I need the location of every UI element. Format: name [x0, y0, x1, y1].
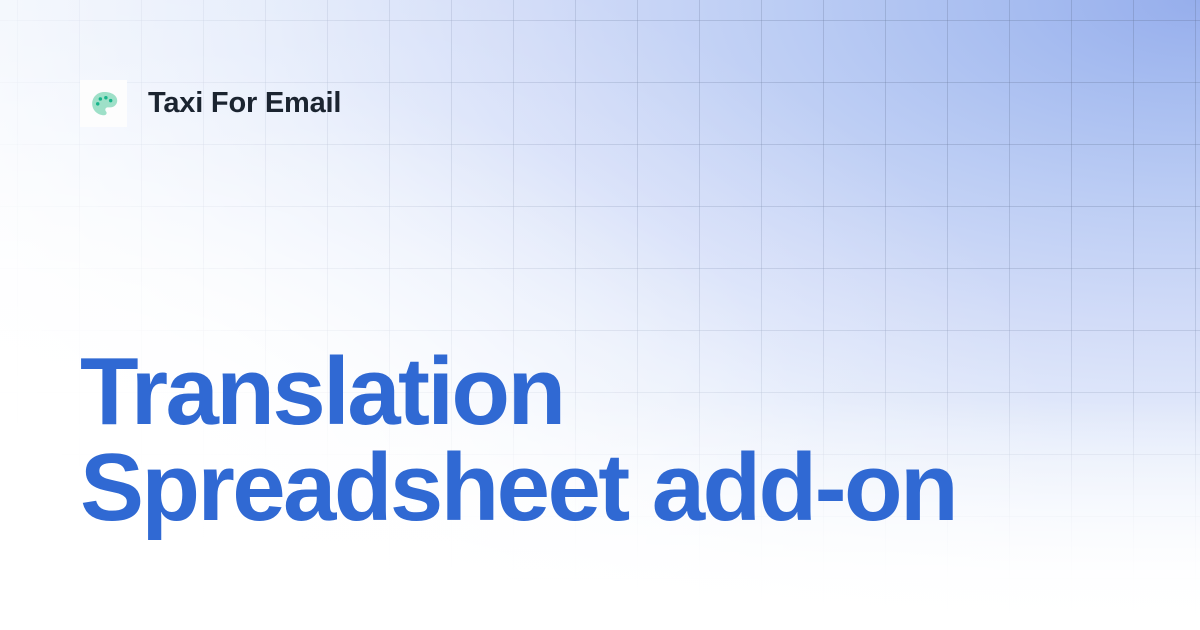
card-content: Taxi For Email Translation Spreadsheet a… [0, 0, 1200, 630]
page-title: Translation Spreadsheet add-on [80, 344, 1090, 536]
page-title-line-1: Translation [80, 344, 1090, 440]
brand-lockup: Taxi For Email [80, 80, 341, 127]
brand-name-label: Taxi For Email [148, 89, 341, 118]
page-title-line-2: Spreadsheet add-on [80, 440, 1090, 536]
social-share-card: Taxi For Email Translation Spreadsheet a… [0, 0, 1200, 630]
artist-palette-icon [80, 80, 127, 127]
